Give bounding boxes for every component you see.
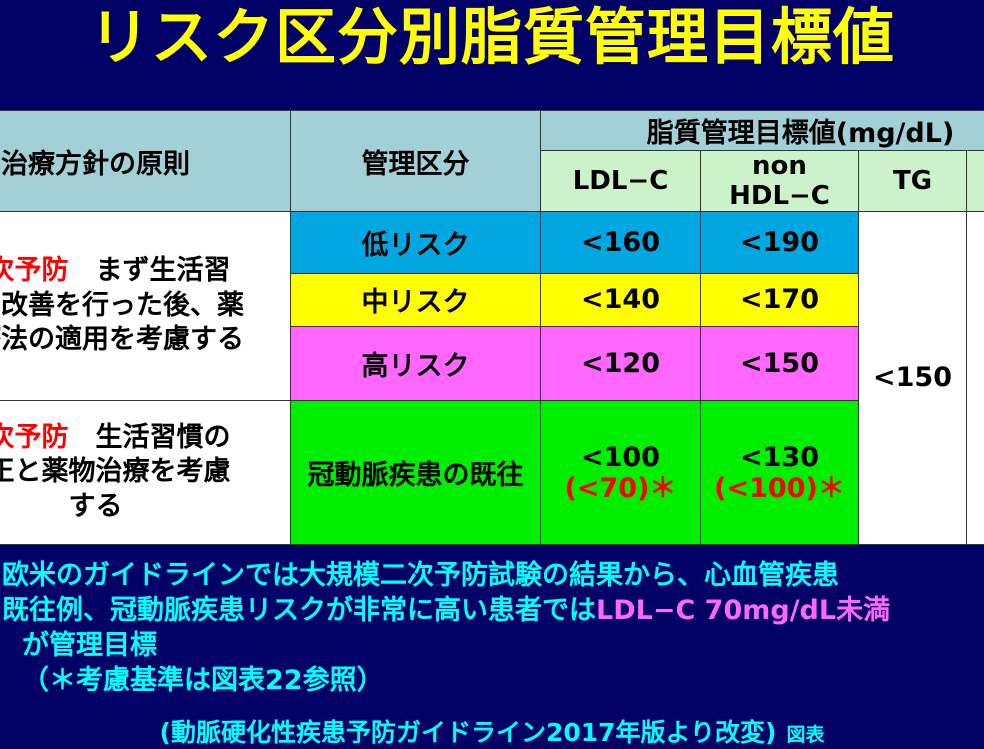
header-category: 管理区分 — [291, 111, 541, 212]
lipid-management-table-container: 治療方針の原則 管理区分 脂質管理目標値(mg/dL) LDL−C non HD… — [0, 110, 984, 545]
cell-policy-secondary-prevention: 二次予防 生活習慣の 是正と薬物治療を考慮 する — [0, 401, 291, 545]
page-title: リスク区分別脂質管理目標値 — [89, 7, 895, 68]
cell-ldl-mid-risk: <140 — [541, 273, 701, 326]
note-line-3: が管理目標 — [0, 628, 984, 663]
cell-ldl-secondary: <100 (<70)＊ — [541, 401, 701, 545]
citation-line: (動脈硬化性疾患予防ガイドライン2017年版より改変)図表 — [0, 713, 984, 749]
note-block: 欧米のガイドラインでは大規模二次予防試験の結果から、心血管疾患 既往例、冠動脈疾… — [0, 548, 984, 698]
cell-non-hdl-secondary-main: <130 — [740, 442, 819, 473]
policy-primary-red-label: 一次予防 — [0, 255, 69, 286]
title-bar: リスク区分別脂質管理目標値 — [0, 0, 984, 105]
header-policy: 治療方針の原則 — [0, 111, 291, 212]
note-line-2-text: 既往例、冠動脈疾患リスクが非常に高い患者では — [2, 595, 596, 626]
table-row: 二次予防 生活習慣の 是正と薬物治療を考慮 する 冠動脈疾患の既往 <100 (… — [0, 401, 984, 545]
cell-ldl-secondary-note: (<70)＊ — [545, 473, 696, 504]
citation-source: (動脈硬化性疾患予防ガイドライン2017年版より改変) — [160, 718, 777, 747]
note-line-2: 既往例、冠動脈疾患リスクが非常に高い患者ではLDL−C 70mg/dL未満 — [0, 593, 984, 628]
header-non-hdl-c: non HDL−C — [701, 151, 859, 212]
cell-hdl-all: ≥40 — [967, 212, 984, 545]
policy-primary-text: 一次予防 まず生活習 慣の改善を行った後、薬 物療法の適用を考慮する — [0, 254, 286, 358]
policy-secondary-red-label: 二次予防 — [0, 422, 69, 453]
cell-category-mid-risk: 中リスク — [291, 273, 541, 326]
policy-secondary-text: 二次予防 生活習慣の 是正と薬物治療を考慮 する — [0, 421, 286, 525]
footer-notes: 欧米のガイドラインでは大規模二次予防試験の結果から、心血管疾患 既往例、冠動脈疾… — [0, 548, 984, 745]
figure-reference-label: 図表 — [786, 724, 824, 746]
cell-non-hdl-secondary: <130 (<100)＊ — [701, 401, 859, 545]
header-target-group: 脂質管理目標値(mg/dL) — [541, 111, 984, 151]
cell-policy-primary-prevention: 一次予防 まず生活習 慣の改善を行った後、薬 物療法の適用を考慮する — [0, 212, 291, 401]
note-line-2-highlight: LDL−C 70mg/dL未満 — [596, 595, 890, 626]
note-line-1: 欧米のガイドラインでは大規模二次予防試験の結果から、心血管疾患 — [0, 558, 984, 593]
cell-tg-all: <150 — [859, 212, 967, 545]
cell-non-hdl-secondary-note: (<100)＊ — [705, 473, 854, 504]
table-row: 一次予防 まず生活習 慣の改善を行った後、薬 物療法の適用を考慮する 低リスク … — [0, 212, 984, 274]
header-ldl-c: LDL−C — [541, 151, 701, 212]
note-line-4: （＊考慮基準は図表22参照） — [0, 663, 984, 698]
table-header-row-top: 治療方針の原則 管理区分 脂質管理目標値(mg/dL) — [0, 111, 984, 151]
cell-ldl-secondary-main: <100 — [581, 442, 660, 473]
cell-category-high-risk: 高リスク — [291, 326, 541, 400]
cell-non-hdl-mid-risk: <170 — [701, 273, 859, 326]
lipid-management-table: 治療方針の原則 管理区分 脂質管理目標値(mg/dL) LDL−C non HD… — [0, 110, 984, 545]
header-hdl: HDL — [967, 151, 984, 212]
cell-category-coronary-history: 冠動脈疾患の既往 — [291, 401, 541, 545]
cell-non-hdl-low-risk: <190 — [701, 212, 859, 274]
header-tg: TG — [859, 151, 967, 212]
cell-ldl-high-risk: <120 — [541, 326, 701, 400]
cell-category-low-risk: 低リスク — [291, 212, 541, 274]
cell-ldl-low-risk: <160 — [541, 212, 701, 274]
cell-non-hdl-high-risk: <150 — [701, 326, 859, 400]
